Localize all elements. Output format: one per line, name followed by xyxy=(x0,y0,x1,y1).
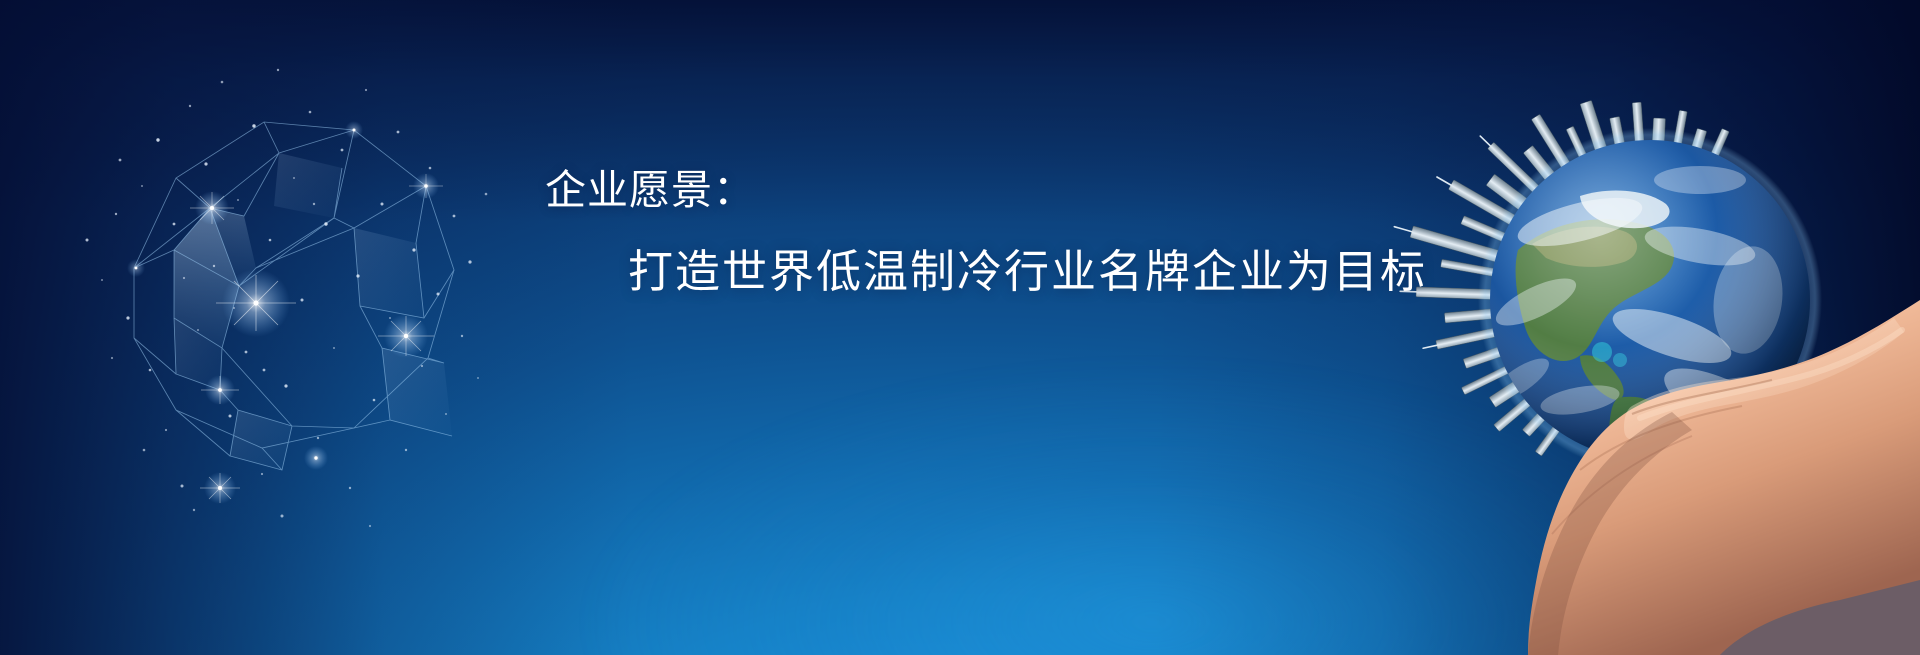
vision-label: 企业愿景： xyxy=(545,170,755,211)
hero-banner: 企业愿景： 打造世界低温制冷行业名牌企业为目标 xyxy=(0,0,1920,655)
vision-statement: 打造世界低温制冷行业名牌企业为目标 xyxy=(628,249,1427,294)
headline-block: 企业愿景： 打造世界低温制冷行业名牌企业为目标 xyxy=(0,0,1920,655)
